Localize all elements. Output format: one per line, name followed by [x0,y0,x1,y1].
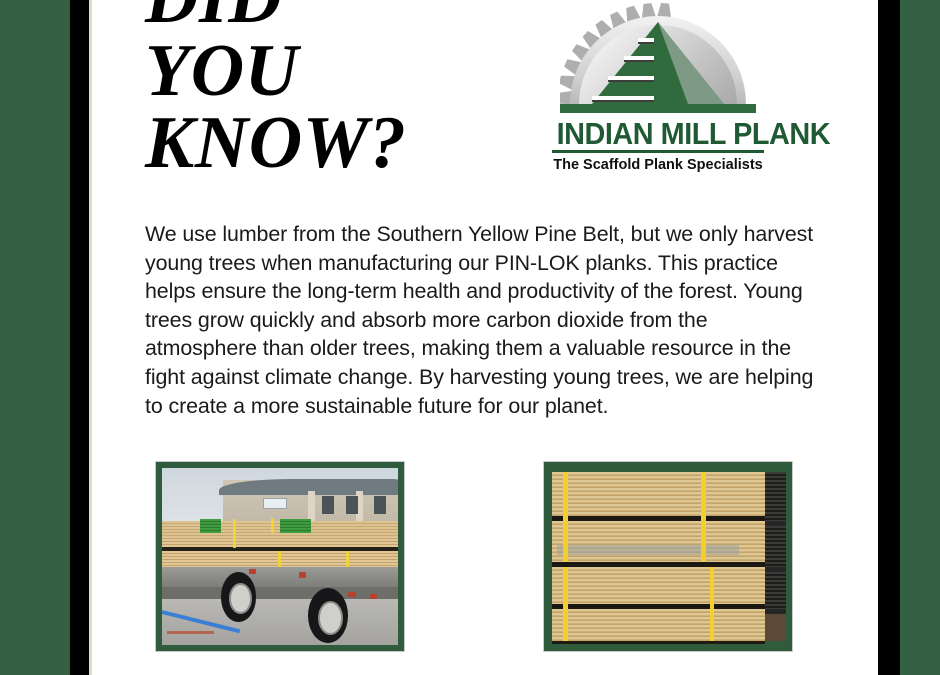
modal-body-text: We use lumber from the Southern Yellow P… [145,220,825,420]
photo-row [92,461,878,661]
page-root: DID YOU KNOW? [0,0,940,675]
brand-logo: INDIAN MILL PLANK The Scaffold Plank Spe… [549,0,767,195]
backdrop-band-right [878,0,900,675]
modal-header: DID YOU KNOW? [92,0,878,210]
saw-blade-pyramid-logo-icon [560,0,756,118]
logo-wordmark: INDIAN MILL PLANK [557,118,760,149]
logo-divider [552,150,764,153]
page-title: DID YOU KNOW? [145,0,465,180]
flatbed-truck-loaded-with-lumber-photo [155,461,405,652]
did-you-know-modal: DID YOU KNOW? [92,0,878,675]
logo-tagline: The Scaffold Plank Specialists [549,157,767,174]
stacked-plank-ends-photo [543,461,793,652]
